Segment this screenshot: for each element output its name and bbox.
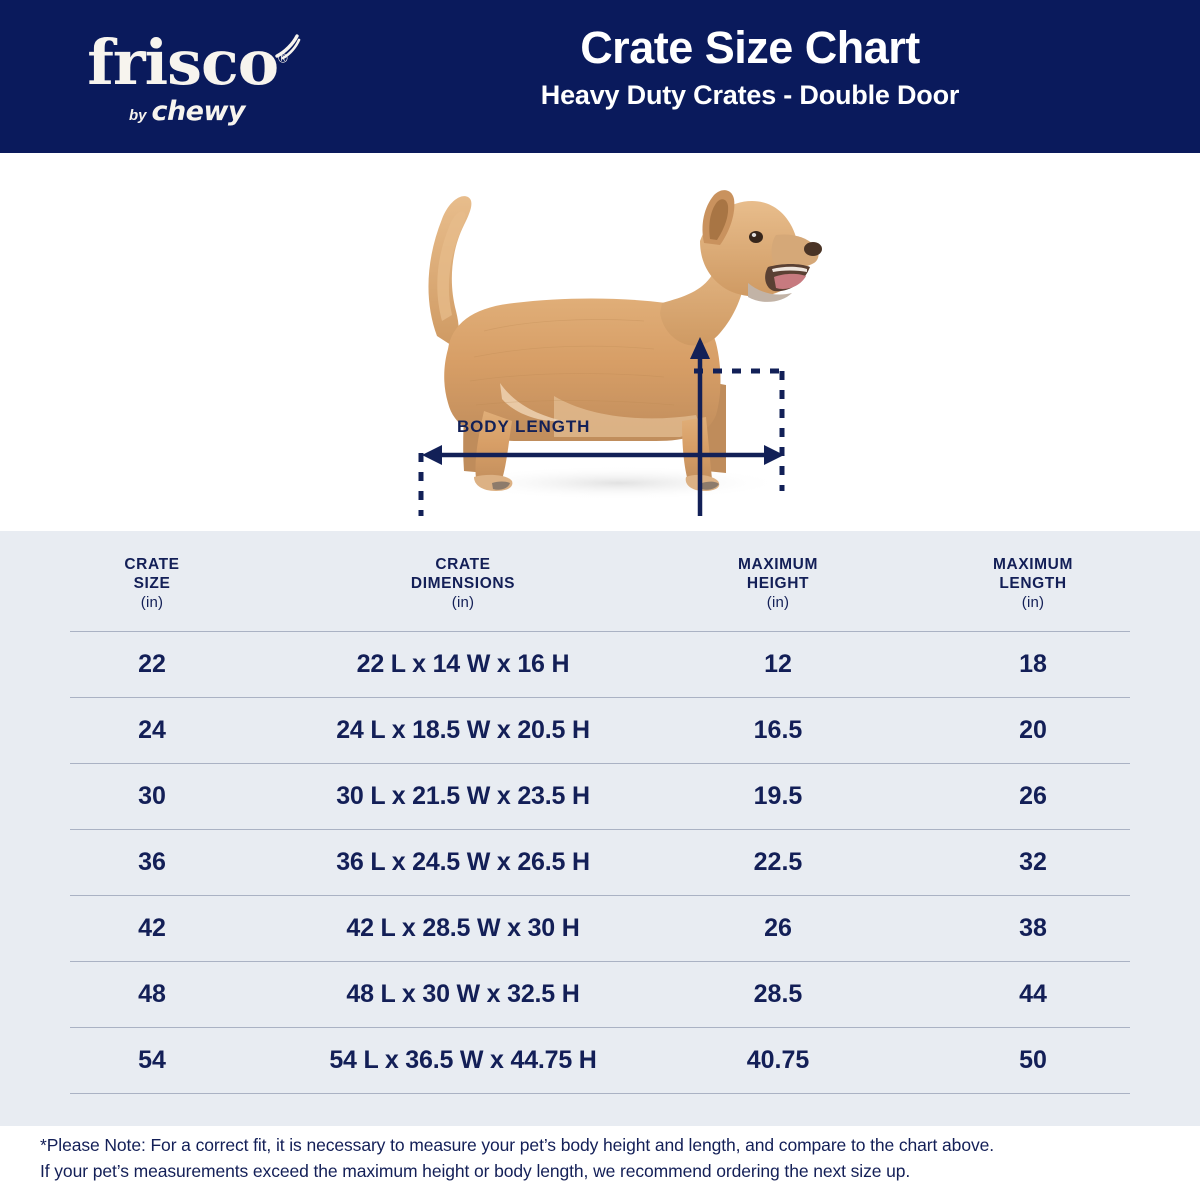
column-header-unit: (in)	[678, 594, 878, 613]
cell-maximum-height: 40.75	[678, 1046, 878, 1075]
brand-by-text: by	[129, 107, 147, 124]
cell-crate-dimensions: 36 L x 24.5 W x 26.5 H	[308, 848, 618, 877]
brand-parent-text: chewy	[151, 96, 245, 127]
cell-maximum-height: 16.5	[678, 716, 878, 745]
cell-crate-dimensions: 54 L x 36.5 W x 44.75 H	[308, 1046, 618, 1075]
cell-maximum-length: 20	[933, 716, 1133, 745]
cell-crate-size: 42	[52, 914, 252, 943]
column-header-unit: (in)	[363, 594, 563, 613]
page-title: Crate Size Chart	[330, 22, 1170, 74]
column-header-crate-dimensions: CRATE DIMENSIONS (in)	[363, 555, 563, 613]
table-row: 48 48 L x 30 W x 32.5 H 28.5 44	[0, 961, 1200, 1027]
table-row: 42 42 L x 28.5 W x 30 H 26 38	[0, 895, 1200, 961]
cell-crate-dimensions: 42 L x 28.5 W x 30 H	[308, 914, 618, 943]
cell-crate-size: 54	[52, 1046, 252, 1075]
cell-crate-dimensions: 22 L x 14 W x 16 H	[308, 650, 618, 679]
dog-illustration	[404, 171, 824, 516]
header-title-block: Crate Size Chart Heavy Duty Crates - Dou…	[330, 22, 1170, 111]
cell-crate-size: 30	[52, 782, 252, 811]
cell-crate-size: 36	[52, 848, 252, 877]
cell-maximum-height: 19.5	[678, 782, 878, 811]
swish-icon	[275, 34, 301, 60]
page-subtitle: Heavy Duty Crates - Double Door	[330, 80, 1170, 111]
brand-wordmark: frisco®	[87, 32, 287, 94]
cell-maximum-length: 32	[933, 848, 1133, 877]
cell-crate-dimensions: 48 L x 30 W x 32.5 H	[308, 980, 618, 1009]
diagram-inner: BODY LENGTH BODY HEIGHT	[0, 153, 1200, 531]
cell-crate-dimensions: 24 L x 18.5 W x 20.5 H	[308, 716, 618, 745]
cell-maximum-length: 18	[933, 650, 1133, 679]
column-header-maximum-height: MAXIMUM HEIGHT (in)	[678, 555, 878, 613]
column-header-line2: SIZE	[134, 575, 171, 592]
footnote-line-2: If your pet’s measurements exceed the ma…	[40, 1158, 1165, 1184]
cell-maximum-length: 26	[933, 782, 1133, 811]
table-row: 30 30 L x 21.5 W x 23.5 H 19.5 26	[0, 763, 1200, 829]
cell-maximum-height: 26	[678, 914, 878, 943]
column-header-maximum-length: MAXIMUM LENGTH (in)	[933, 555, 1133, 613]
column-header-line1: CRATE	[124, 556, 179, 573]
row-divider	[70, 1027, 1130, 1028]
brand-name-text: frisco	[87, 26, 278, 99]
body-length-label: BODY LENGTH	[457, 417, 590, 437]
cell-maximum-length: 50	[933, 1046, 1133, 1075]
cell-maximum-height: 12	[678, 650, 878, 679]
table-bottom-divider-row	[0, 1093, 1200, 1123]
dog-image	[404, 171, 824, 516]
table-header-row: CRATE SIZE (in) CRATE DIMENSIONS (in) MA…	[0, 545, 1200, 631]
row-divider	[70, 829, 1130, 830]
column-header-line1: MAXIMUM	[993, 556, 1073, 573]
cell-crate-size: 24	[52, 716, 252, 745]
column-header-unit: (in)	[52, 594, 252, 613]
row-divider	[70, 697, 1130, 698]
column-header-line1: MAXIMUM	[738, 556, 818, 573]
cell-maximum-height: 28.5	[678, 980, 878, 1009]
column-header-line2: HEIGHT	[747, 575, 809, 592]
row-divider	[70, 961, 1130, 962]
footnote: *Please Note: For a correct fit, it is n…	[40, 1132, 1165, 1185]
cell-crate-size: 48	[52, 980, 252, 1009]
cell-crate-dimensions: 30 L x 21.5 W x 23.5 H	[308, 782, 618, 811]
row-divider	[70, 895, 1130, 896]
table-row: 24 24 L x 18.5 W x 20.5 H 16.5 20	[0, 697, 1200, 763]
column-header-unit: (in)	[933, 594, 1133, 613]
row-divider	[70, 631, 1130, 632]
page-header: frisco® by chewy Crate Size Chart Heavy …	[0, 0, 1200, 153]
brand-parent-line: by chewy	[129, 96, 245, 127]
column-header-crate-size: CRATE SIZE (in)	[52, 555, 252, 613]
footnote-line-1: *Please Note: For a correct fit, it is n…	[40, 1132, 1165, 1158]
column-header-line1: CRATE	[435, 556, 490, 573]
table-row: 54 54 L x 36.5 W x 44.75 H 40.75 50	[0, 1027, 1200, 1093]
size-table-section: CRATE SIZE (in) CRATE DIMENSIONS (in) MA…	[0, 531, 1200, 1126]
cell-maximum-length: 44	[933, 980, 1133, 1009]
row-divider	[70, 763, 1130, 764]
frisco-by-chewy-logo: frisco® by chewy	[62, 24, 312, 134]
measurement-diagram-section: BODY LENGTH BODY HEIGHT	[0, 153, 1200, 531]
cell-crate-size: 22	[52, 650, 252, 679]
table-body: 22 22 L x 14 W x 16 H 12 18 24 24 L x 18…	[0, 631, 1200, 1123]
column-header-line2: LENGTH	[999, 575, 1066, 592]
table-row: 22 22 L x 14 W x 16 H 12 18	[0, 631, 1200, 697]
crate-size-chart-page: frisco® by chewy Crate Size Chart Heavy …	[0, 0, 1200, 1200]
table-row: 36 36 L x 24.5 W x 26.5 H 22.5 32	[0, 829, 1200, 895]
row-divider	[70, 1093, 1130, 1094]
column-header-line2: DIMENSIONS	[411, 575, 515, 592]
cell-maximum-length: 38	[933, 914, 1133, 943]
cell-maximum-height: 22.5	[678, 848, 878, 877]
